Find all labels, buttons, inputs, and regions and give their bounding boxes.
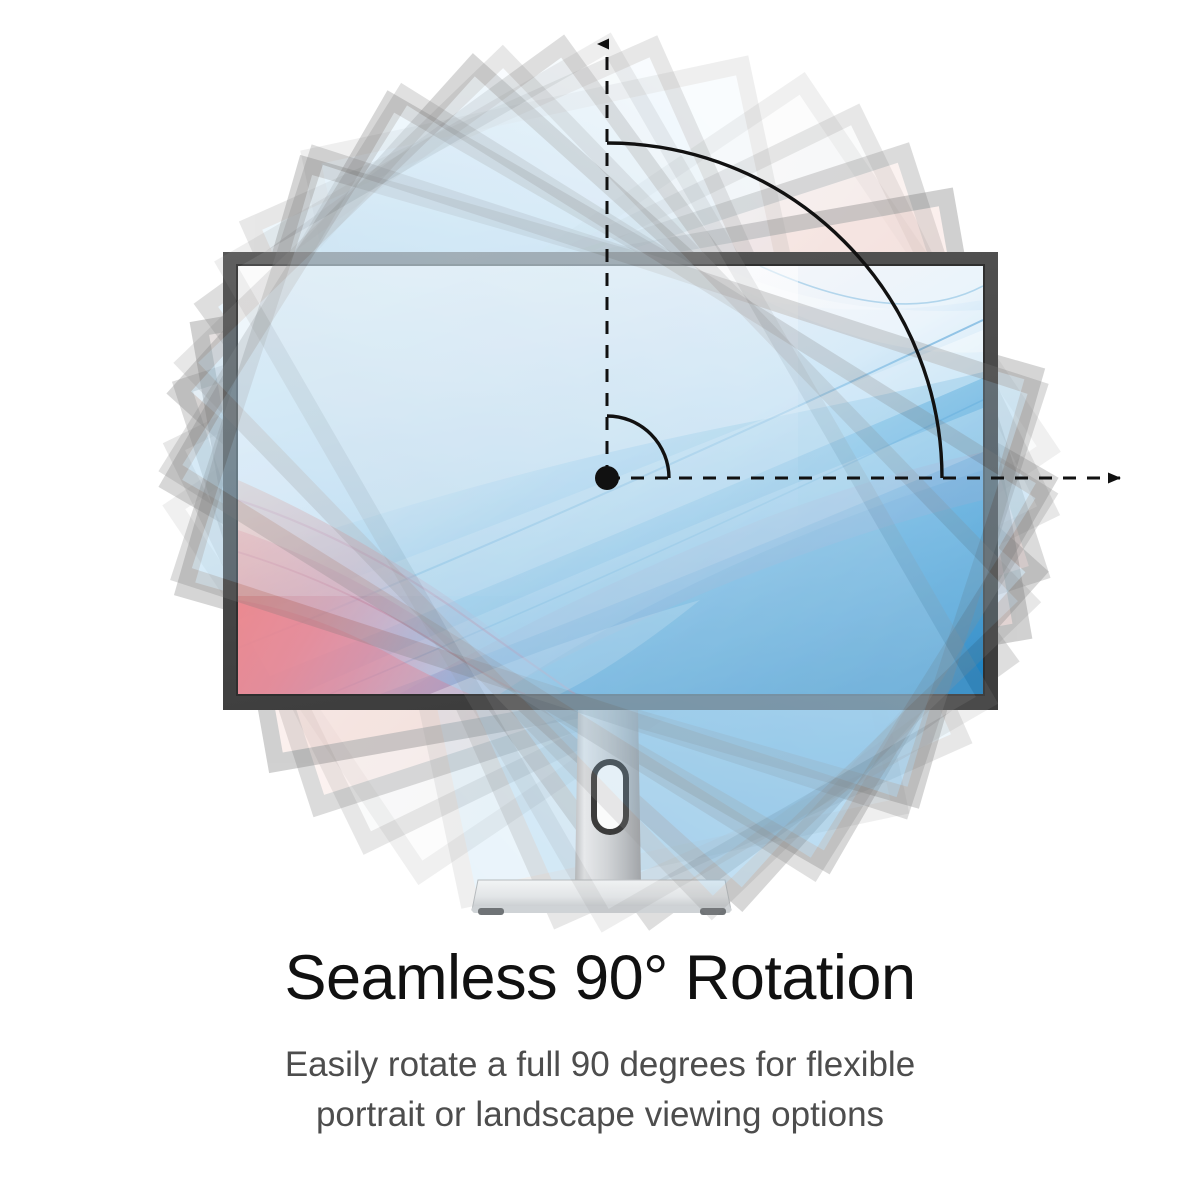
pivot-point-icon: [595, 466, 619, 490]
caption-block: Seamless 90° Rotation Easily rotate a fu…: [0, 944, 1200, 1139]
rotation-diagram-svg: [0, 0, 1200, 940]
stand-foot-left: [478, 908, 504, 915]
subtitle-line-1: Easily rotate a full 90 degrees for flex…: [0, 1040, 1200, 1090]
subtitle-line-2: portrait or landscape viewing options: [0, 1090, 1200, 1140]
page-title: Seamless 90° Rotation: [0, 944, 1200, 1012]
subtitle: Easily rotate a full 90 degrees for flex…: [0, 1040, 1200, 1139]
rotation-diagram: [0, 0, 1200, 940]
product-feature-card: Seamless 90° Rotation Easily rotate a fu…: [0, 0, 1200, 1200]
